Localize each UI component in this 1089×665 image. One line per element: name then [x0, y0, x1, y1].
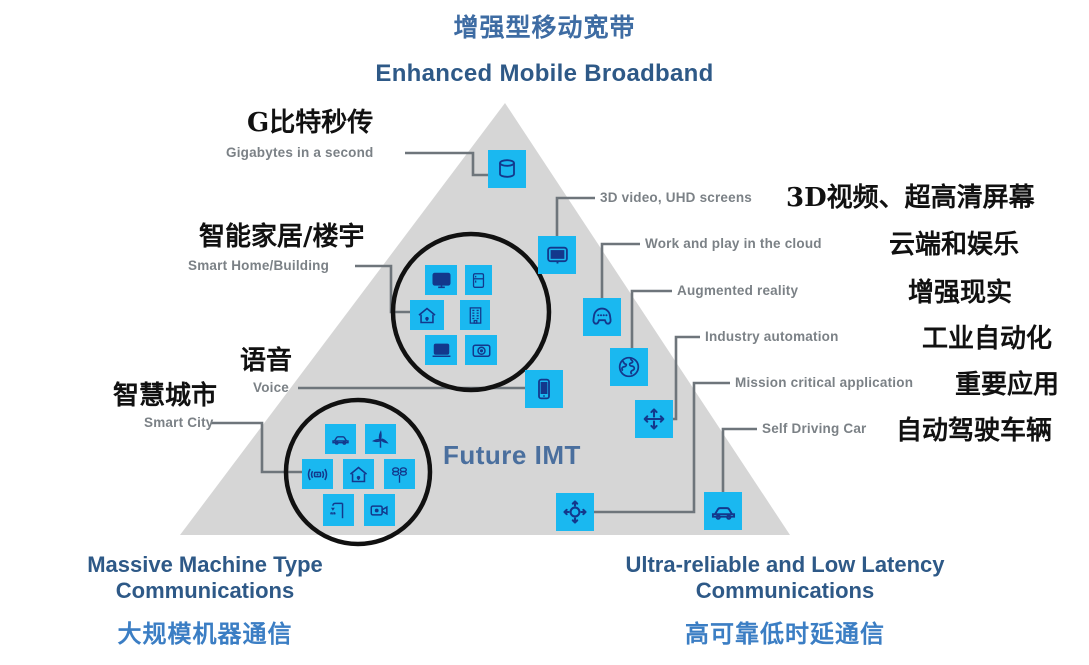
camera-icon[interactable] [465, 335, 497, 365]
label-cn-smart-home: 智能家居/楼宇 [199, 216, 365, 253]
label-cn-mission-critical: 重要应用 [955, 364, 1059, 401]
crosshair-target-icon[interactable] [556, 493, 594, 531]
label-en-voice: Voice [253, 380, 289, 395]
label-cn-voice: 语音 [240, 340, 292, 377]
label-en-ar: Augmented reality [677, 283, 798, 298]
solar-panel-icon[interactable] [384, 459, 415, 489]
label-cn-industry: 工业自动化 [922, 318, 1052, 355]
car-icon[interactable] [704, 492, 742, 530]
label-en-3d-video: 3D video, UHD screens [600, 190, 752, 205]
wifi-signal-icon[interactable] [302, 459, 333, 489]
apartment-building-icon[interactable] [460, 300, 490, 330]
label-cn-gigabytes: G比特秒传 [247, 102, 373, 139]
game-controller-icon[interactable] [583, 298, 621, 336]
tv-screen-icon[interactable] [538, 236, 576, 274]
label-en-smart-home: Smart Home/Building [188, 258, 329, 273]
top-corner-cn-title: 增强型移动宽带 [0, 8, 1089, 44]
smartphone-icon[interactable] [525, 370, 563, 408]
label-en-gigabytes: Gigabytes in a second [226, 145, 374, 160]
label-en-mission-critical: Mission critical application [735, 375, 913, 390]
monitor-icon[interactable] [425, 265, 457, 295]
wind-turbine-icon[interactable] [365, 424, 396, 454]
label-cn-3d-video: 3D视频、超高清屏幕 [786, 177, 1035, 214]
label-en-self-driving: Self Driving Car [762, 421, 866, 436]
bottom-right-cn-title: 高可靠低时延通信 [565, 614, 1005, 649]
car-icon[interactable] [325, 424, 356, 454]
bottom-left-cn-title: 大规模机器通信 [40, 614, 370, 649]
globe-icon[interactable] [610, 348, 648, 386]
label-cn-ar: 增强现实 [908, 272, 1012, 309]
bottom-right-en-line1: Ultra-reliable and Low Latency [565, 552, 1005, 578]
house-icon[interactable] [343, 459, 374, 489]
label-en-cloud: Work and play in the cloud [645, 236, 822, 251]
label-en-industry: Industry automation [705, 329, 839, 344]
bottom-left-en-line2: Communications [40, 578, 370, 604]
top-corner-en-title: Enhanced Mobile Broadband [0, 60, 1089, 88]
label-en-smart-city: Smart City [144, 415, 214, 430]
label-cn-self-driving: 自动驾驶车辆 [896, 410, 1052, 447]
imt-2020-usage-scenarios-diagram: 增强型移动宽带 Enhanced Mobile Broadband Massiv… [0, 0, 1089, 665]
street-light-icon[interactable] [323, 494, 354, 526]
bottom-right-en-line2: Communications [565, 578, 1005, 604]
move-arrows-icon[interactable] [635, 400, 673, 438]
video-camera-icon[interactable] [364, 494, 395, 526]
refrigerator-icon[interactable] [465, 265, 492, 295]
bottom-left-en-line1: Massive Machine Type [40, 552, 370, 578]
center-label-future-imt: Future IMT [443, 440, 581, 471]
label-cn-cloud: 云端和娱乐 [889, 224, 1019, 261]
database-icon[interactable] [488, 150, 526, 188]
label-cn-smart-city: 智慧城市 [113, 375, 217, 412]
laptop-icon[interactable] [425, 335, 457, 365]
house-icon[interactable] [410, 300, 444, 330]
